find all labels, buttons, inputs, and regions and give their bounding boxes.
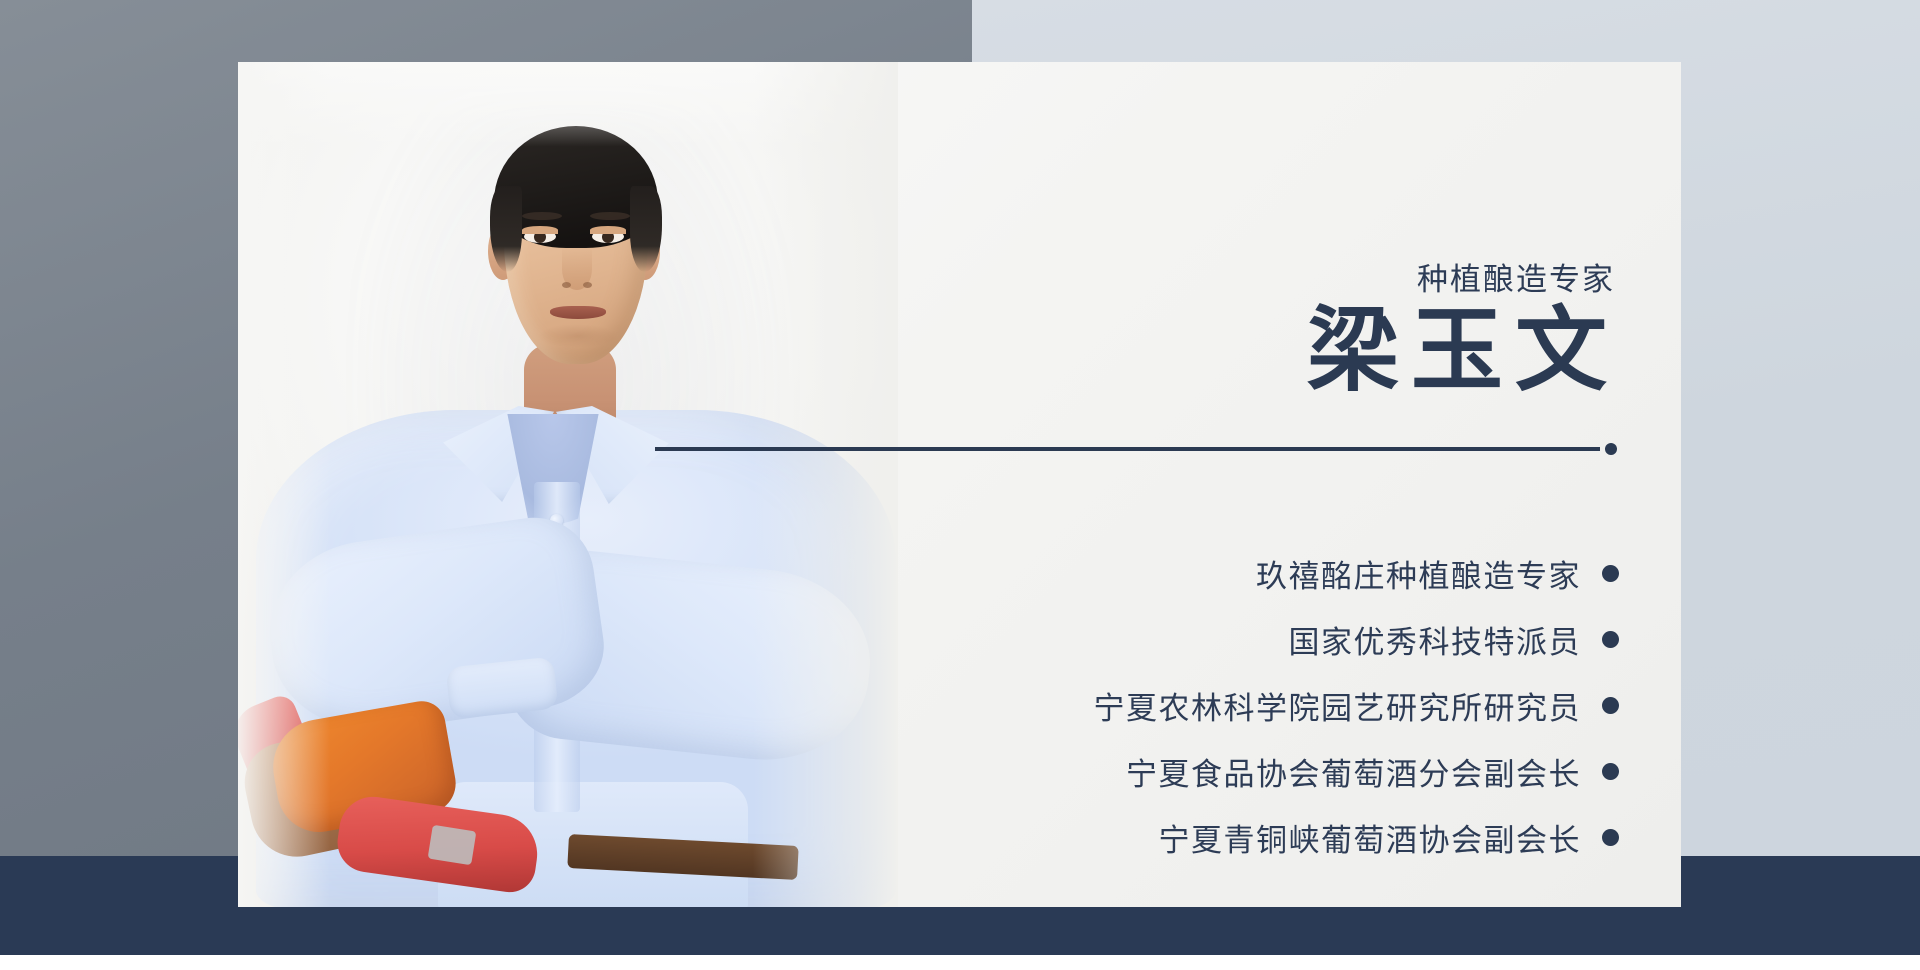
profile-name: 梁玉文 <box>1307 305 1619 397</box>
pruning-shears-label <box>428 825 477 865</box>
portrait-nostril-right <box>583 282 592 288</box>
bullet-dot-icon <box>1602 631 1619 648</box>
credential-text: 玖禧酩庄种植酿造专家 <box>1256 551 1581 596</box>
bullet-dot-icon <box>1602 829 1619 846</box>
bullet-dot-icon <box>1602 697 1619 714</box>
list-item: 宁夏青铜峡葡萄酒协会副会长 <box>859 804 1619 870</box>
portrait-eyebrow-right <box>590 212 630 220</box>
portrait-mouth <box>550 306 606 319</box>
portrait-nostril-left <box>562 282 571 288</box>
background-strip-white <box>0 955 1920 970</box>
portrait-eyebrow-left <box>522 212 562 220</box>
list-item: 国家优秀科技特派员 <box>859 606 1619 672</box>
list-item: 玖禧酩庄种植酿造专家 <box>859 540 1619 606</box>
credentials-list: 玖禧酩庄种植酿造专家 国家优秀科技特派员 宁夏农林科学院园艺研究所研究员 宁夏食… <box>859 540 1619 870</box>
bullet-dot-icon <box>1602 565 1619 582</box>
divider-end-dot <box>1605 443 1617 455</box>
portrait-photo <box>238 62 898 907</box>
poster-stage: 种植酿造专家 梁玉文 玖禧酩庄种植酿造专家 国家优秀科技特派员 宁夏农林科学院园… <box>0 0 1920 970</box>
profile-card: 种植酿造专家 梁玉文 玖禧酩庄种植酿造专家 国家优秀科技特派员 宁夏农林科学院园… <box>238 62 1681 907</box>
portrait-chin-shadow <box>538 324 618 348</box>
list-item: 宁夏食品协会葡萄酒分会副会长 <box>859 738 1619 804</box>
profile-subtitle: 种植酿造专家 <box>1417 254 1615 299</box>
bullet-dot-icon <box>1602 763 1619 780</box>
portrait-hair-side-left <box>490 186 522 272</box>
portrait-eye-right <box>592 230 624 243</box>
list-item: 宁夏农林科学院园艺研究所研究员 <box>859 672 1619 738</box>
divider-line <box>655 447 1600 451</box>
divider <box>655 442 1617 456</box>
credential-text: 宁夏青铜峡葡萄酒协会副会长 <box>1159 815 1582 860</box>
portrait-eye-left <box>524 230 556 243</box>
credential-text: 宁夏农林科学院园艺研究所研究员 <box>1094 683 1582 728</box>
credential-text: 宁夏食品协会葡萄酒分会副会长 <box>1126 749 1581 794</box>
credential-text: 国家优秀科技特派员 <box>1289 617 1582 662</box>
